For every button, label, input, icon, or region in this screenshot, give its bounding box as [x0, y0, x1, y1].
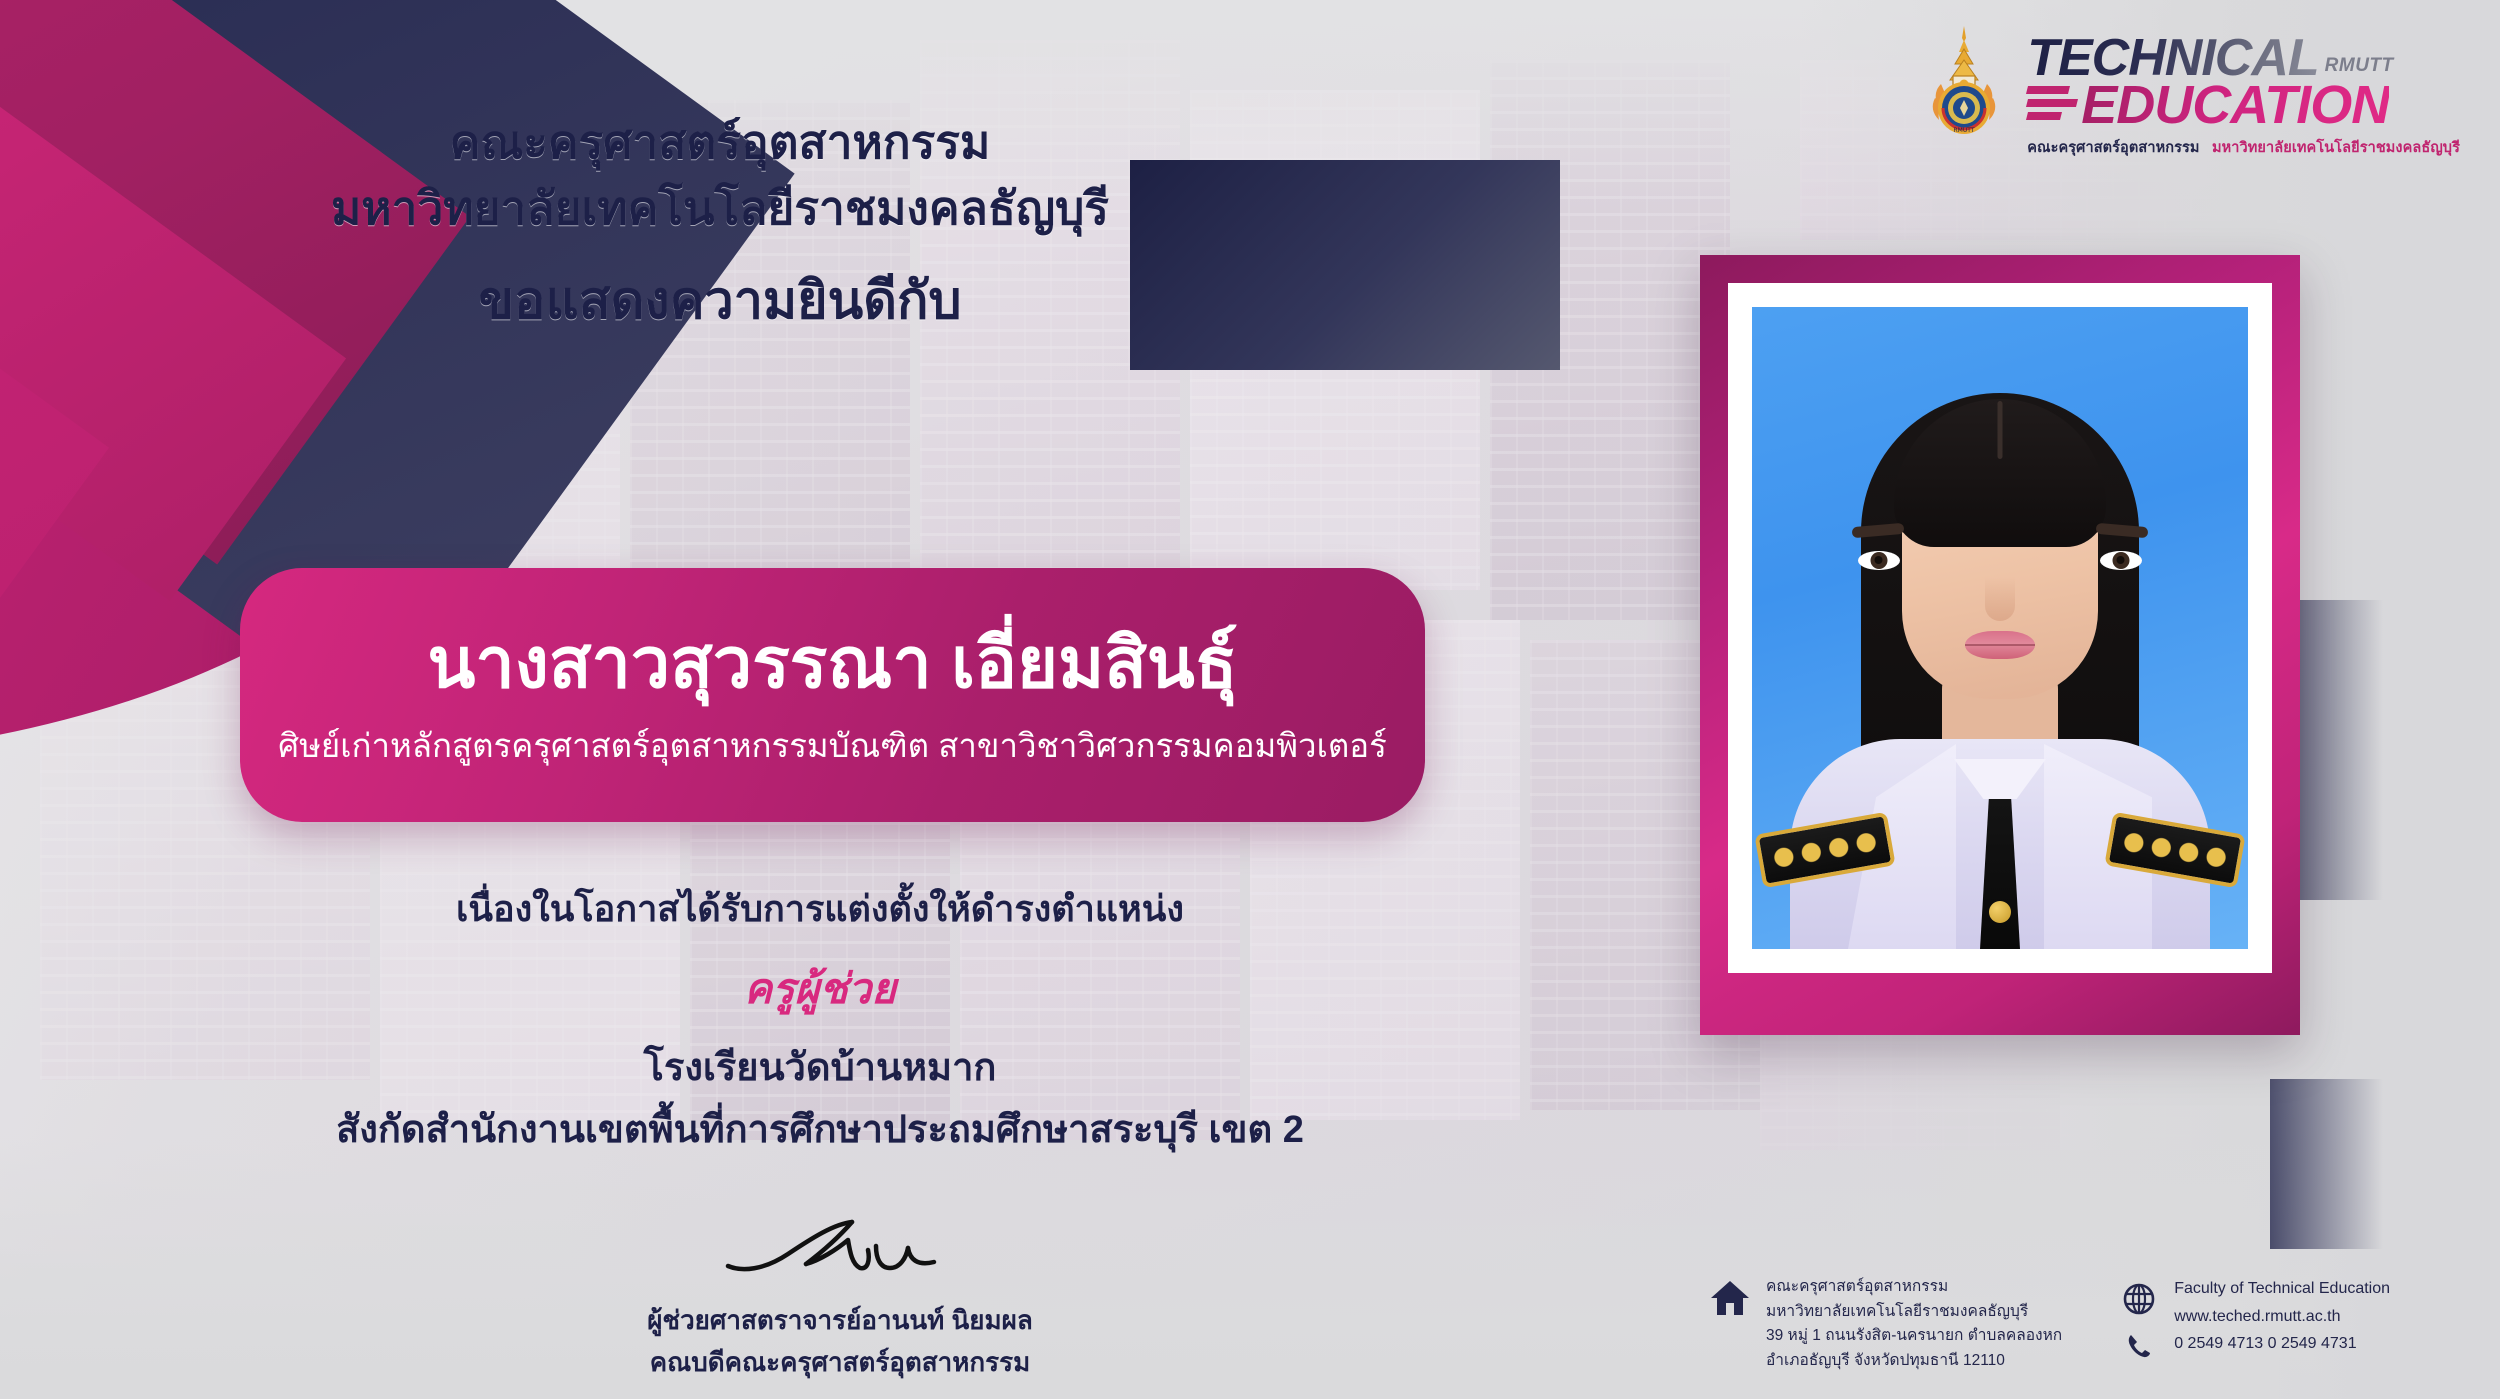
home-icon: [1710, 1275, 1752, 1322]
address-line-4: อำเภอธัญบุรี จังหวัดปทุมธานี 12110: [1766, 1352, 2005, 1369]
rmutt-logo-block: RMUTT TECHNICAL RMUTT EDUCATION คณะครุศา…: [1923, 24, 2460, 159]
honoree-nameplate: นางสาวสุวรรณา เอี่ยมสินธุ์ ศิษย์เก่าหลัก…: [240, 568, 1425, 822]
signatory-name: ผู้ช่วยศาสตราจารย์อานนท์ นิยมผล: [460, 1300, 1220, 1342]
footer-web-phone-group: Faculty of Technical Education www.teche…: [2118, 1275, 2390, 1365]
handwritten-signature-icon: [710, 1216, 970, 1286]
header-faculty: คณะครุศาสตร์อุตสาหกรรม: [120, 114, 1320, 170]
logo-subtitle-faculty: คณะครุศาสตร์อุตสาหกรรม: [2027, 140, 2199, 156]
address-line-3: 39 หมู่ 1 ถนนรังสิต-นครนายก ตำบลคลองหก: [1766, 1327, 2062, 1344]
faculty-phones: 0 2549 4713 0 2549 4731: [2174, 1335, 2356, 1352]
portrait-white-mat: [1728, 283, 2272, 973]
faculty-en-name: Faculty of Technical Education: [2174, 1280, 2390, 1297]
phone-icon: [2125, 1332, 2153, 1365]
honoree-photo: [1752, 307, 2248, 949]
rmutt-royal-emblem-icon: RMUTT: [1923, 24, 2005, 136]
body-office: สังกัดสำนักงานเขตพื้นที่การศึกษาประถมศึก…: [120, 1098, 1520, 1159]
body-occasion: เนื่องในโอกาสได้รับการแต่งตั้งให้ดำรงตำแ…: [120, 880, 1520, 937]
signature-block: ผู้ช่วยศาสตราจารย์อานนท์ นิยมผล คณบดีคณะ…: [460, 1216, 1220, 1383]
footer-address-text: คณะครุศาสตร์อุตสาหกรรม มหาวิทยาลัยเทคโนโ…: [1766, 1275, 2062, 1373]
honoree-degree-line: ศิษย์เก่าหลักสูตรครุศาสตร์อุตสาหกรรมบัณฑ…: [278, 725, 1387, 766]
address-line-1: คณะครุศาสตร์อุตสาหกรรม: [1766, 1278, 1948, 1295]
svg-text:RMUTT: RMUTT: [1954, 127, 1975, 134]
header-university: มหาวิทยาลัยเทคโนโลยีราชมงคลธัญบุรี: [120, 180, 1320, 236]
body-school: โรงเรียนวัดบ้านหมาก: [120, 1036, 1520, 1097]
header-congratulate: ขอแสดงความยินดีกับ: [120, 270, 1320, 332]
honoree-name: นางสาวสุวรรณา เอี่ยมสินธุ์: [427, 624, 1237, 702]
footer-address-group: คณะครุศาสตร์อุตสาหกรรม มหาวิทยาลัยเทคโนโ…: [1710, 1275, 2062, 1373]
globe-icon: [2123, 1283, 2155, 1320]
address-line-2: มหาวิทยาลัยเทคโนโลยีราชมงคลธัญบุรี: [1766, 1303, 2028, 1320]
footer-contact: คณะครุศาสตร์อุตสาหกรรม มหาวิทยาลัยเทคโนโ…: [1710, 1275, 2390, 1373]
footer-contact-text: Faculty of Technical Education www.teche…: [2174, 1275, 2390, 1358]
portrait-frame: [1700, 255, 2300, 1035]
faculty-website[interactable]: www.teched.rmutt.ac.th: [2174, 1308, 2340, 1325]
main-content: คณะครุศาสตร์อุตสาหกรรม มหาวิทยาลัยเทคโนโ…: [0, 0, 1640, 1399]
logo-subtitle-university: มหาวิทยาลัยเทคโนโลยีราชมงคลธัญบุรี: [2212, 140, 2460, 156]
equals-bars-icon: [2027, 86, 2077, 126]
logo-education-text: EDUCATION: [2081, 80, 2389, 132]
congratulation-banner: RMUTT TECHNICAL RMUTT EDUCATION คณะครุศา…: [0, 0, 2500, 1399]
signatory-title: คณบดีคณะครุศาสตร์อุตสาหกรรม: [460, 1342, 1220, 1384]
body-position: ครูผู้ช่วย: [120, 956, 1520, 1022]
